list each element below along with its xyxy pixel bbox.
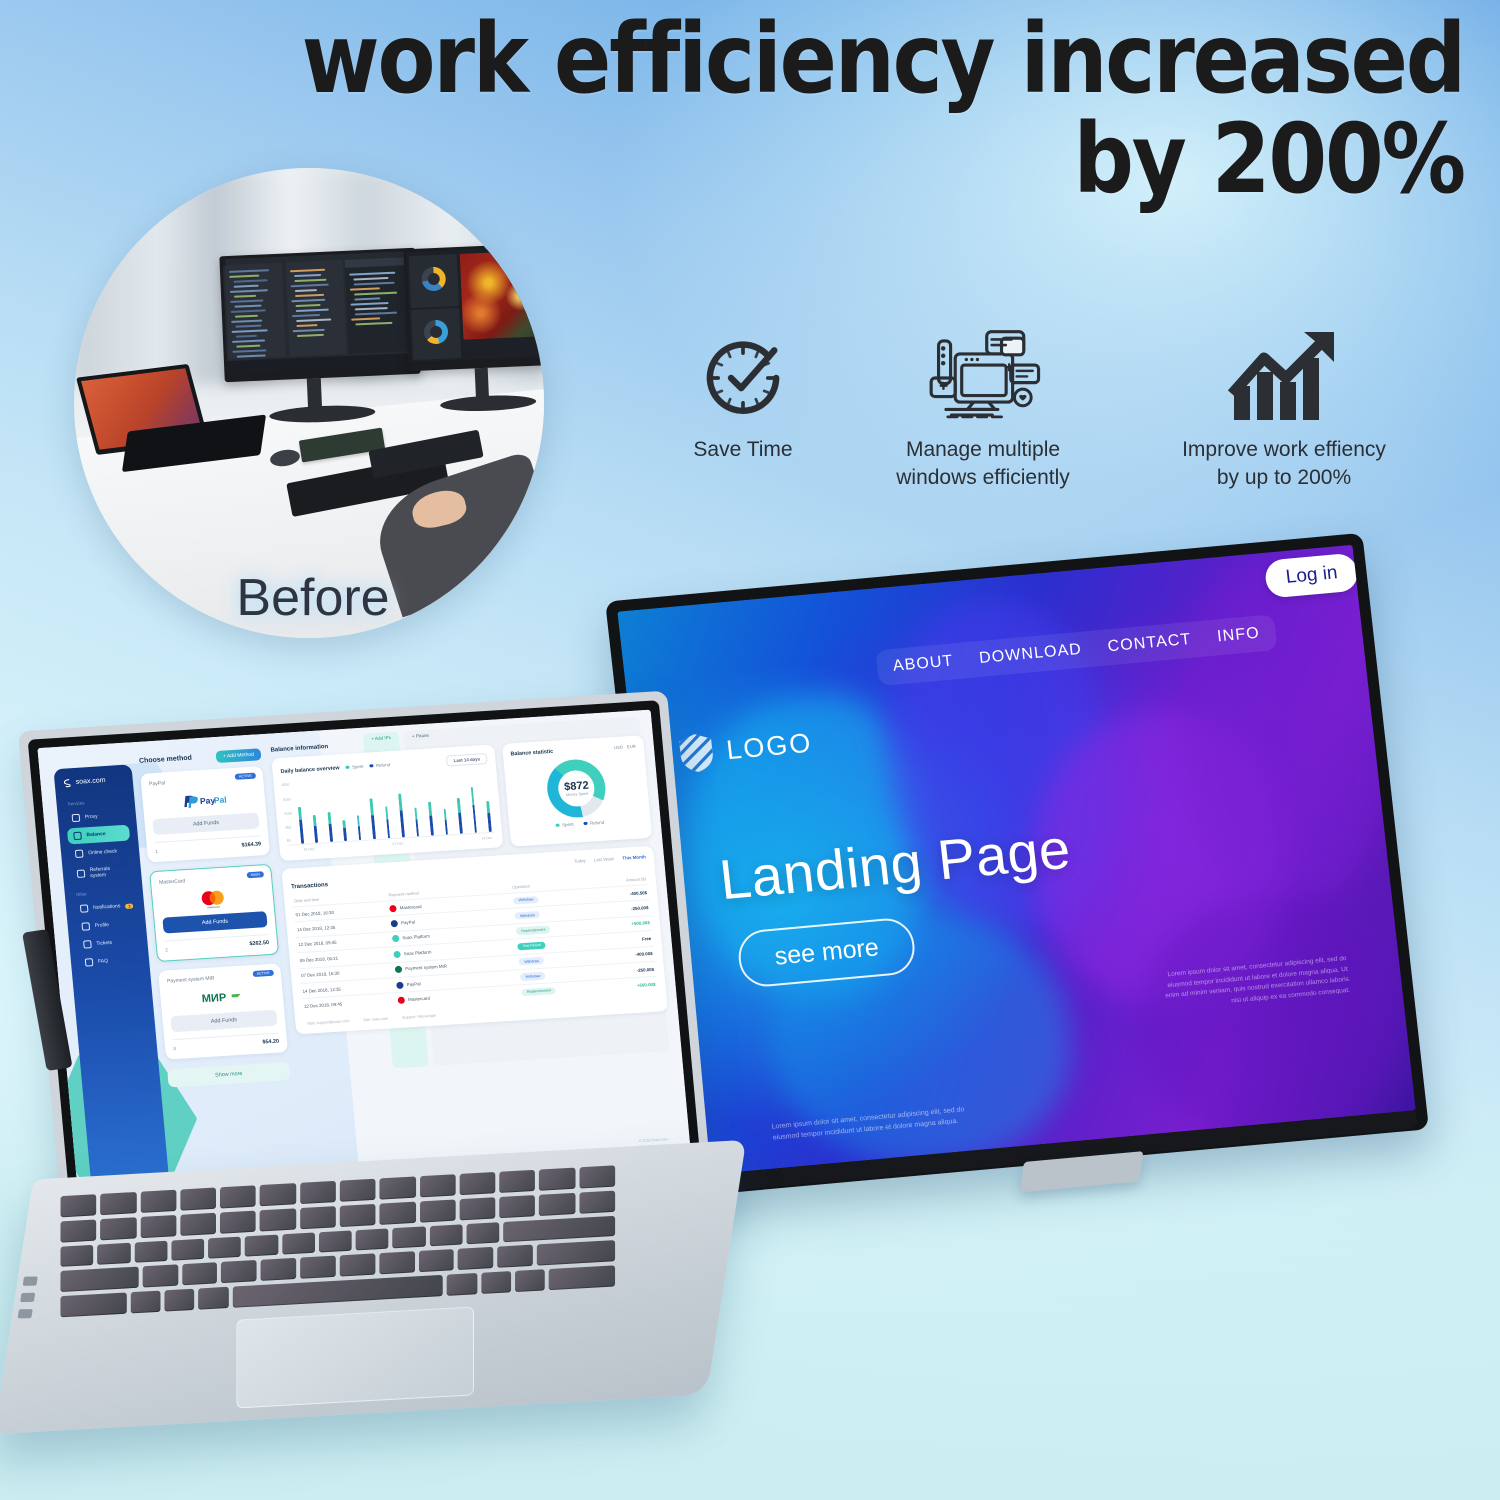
- soax-logo-icon: [62, 778, 72, 788]
- balance-icon: [73, 832, 82, 840]
- editor-pane-2: [285, 260, 346, 356]
- photo-monitor-right: [403, 243, 544, 371]
- keyboard-key[interactable]: [319, 1230, 352, 1253]
- feature-improve-efficiency: Improve work effiency by up to 200%: [1124, 326, 1444, 491]
- chart-bar: [357, 815, 362, 840]
- laptop: + Add IPs + Pause soax.com: [10, 710, 730, 1470]
- laptop-bezel: + Add IPs + Pause soax.com: [28, 700, 703, 1220]
- add-funds-button[interactable]: Add Funds: [162, 911, 267, 933]
- sidebar-item-label: FAQ: [98, 958, 109, 965]
- sidebar-item-label: Referrals system: [89, 865, 127, 879]
- sidebar-item-faq[interactable]: FAQ: [78, 951, 141, 971]
- keyboard-key[interactable]: [220, 1210, 256, 1233]
- keyboard-key[interactable]: [208, 1236, 241, 1259]
- paypal-logo: Pay Pal: [150, 786, 258, 815]
- editor-pane-1: [225, 263, 286, 359]
- sidebar-item-label: Tickets: [96, 940, 112, 947]
- svg-text:mastercard: mastercard: [207, 905, 220, 909]
- legend-spent: Spent: [555, 822, 573, 828]
- x-tick: 07 Dec: [392, 841, 403, 846]
- keyboard-key[interactable]: [171, 1238, 204, 1261]
- statistic-header: Balance statistic USD EUR: [510, 744, 636, 758]
- range-select[interactable]: Last 14 days: [446, 753, 487, 766]
- keyboard-key[interactable]: [499, 1195, 535, 1218]
- currency-usd[interactable]: USD: [614, 744, 623, 751]
- chart-bar: [327, 812, 332, 842]
- feature-list: Save Time: [648, 326, 1448, 526]
- daily-balance-chart-card: Daily balance overview Spent Refund Last…: [271, 745, 503, 862]
- keyboard-key[interactable]: [100, 1217, 136, 1240]
- device-group: ABOUT DOWNLOAD CONTACT INFO Log in: [0, 560, 1500, 1500]
- y-tick: $150: [283, 797, 291, 801]
- nav-item-contact[interactable]: CONTACT: [1107, 631, 1193, 656]
- chart-bar: [470, 787, 477, 833]
- chart-bar: [313, 815, 318, 843]
- keyboard-key[interactable]: [380, 1176, 416, 1199]
- keyboard-key[interactable]: [420, 1174, 456, 1197]
- legend-refund: Refund: [583, 820, 604, 826]
- chart-bar: [343, 820, 347, 841]
- currency-eur[interactable]: EUR: [627, 744, 636, 751]
- sidebar-item-label: Balance: [86, 831, 106, 838]
- chart-bar: [428, 801, 434, 835]
- chart-bar: [398, 793, 405, 837]
- footer-link-mail[interactable]: Mail: support@soax.com: [307, 1019, 349, 1026]
- sidebar-item-proxy[interactable]: Proxy: [65, 807, 128, 827]
- donut-label: Money Spent: [566, 792, 589, 797]
- keyboard-key[interactable]: [539, 1168, 575, 1191]
- keyboard-key[interactable]: [97, 1242, 130, 1265]
- donut-card-2: [411, 308, 461, 360]
- sidebar-item-profile[interactable]: Profile: [75, 915, 138, 935]
- method-count: 2: [165, 947, 168, 952]
- operation-badge: Withdraw: [513, 896, 539, 905]
- chart-bar: [443, 809, 448, 835]
- operation-badge: Withdraw: [519, 957, 545, 966]
- sidebar-item-online-check[interactable]: Online check: [68, 843, 131, 863]
- feature-manage-windows: Manage multiple windows efficiently: [848, 326, 1118, 491]
- soax-dashboard: + Add IPs + Pause soax.com: [37, 710, 692, 1211]
- donut-center: $872 Money Spent: [545, 758, 608, 819]
- keyboard-key[interactable]: [420, 1199, 456, 1222]
- chart-bar: [486, 801, 491, 832]
- keyboard-key[interactable]: [549, 1265, 615, 1290]
- add-method-button[interactable]: + Add Method: [215, 748, 261, 763]
- keyboard-key[interactable]: [429, 1224, 462, 1247]
- poster-canvas: work efficiency increased by 200%: [0, 0, 1500, 1500]
- sidebar-item-label: Notifications: [93, 903, 121, 911]
- keyboard-key[interactable]: [260, 1208, 296, 1231]
- brand: soax.com: [62, 775, 125, 788]
- keyboard-key[interactable]: [180, 1188, 216, 1211]
- nav-item-about[interactable]: ABOUT: [892, 652, 954, 675]
- operation-badge: Withdraw: [520, 972, 546, 981]
- nav-item-info[interactable]: INFO: [1216, 625, 1260, 647]
- method-count: 3: [173, 1046, 176, 1051]
- keyboard-key[interactable]: [515, 1269, 545, 1292]
- filter-last-week[interactable]: Last Week: [594, 856, 615, 862]
- headline-line-1: work efficiency increased: [302, 3, 1464, 115]
- operation-badge: Replenishment: [522, 987, 557, 996]
- notification-badge: 3: [125, 903, 134, 908]
- balance-statistic-card: Balance statistic USD EUR $872 Money Spe…: [502, 735, 652, 846]
- y-tick: $0: [287, 838, 291, 842]
- laptop-base: [0, 1140, 746, 1434]
- show-more-button[interactable]: Show more: [167, 1062, 290, 1088]
- feature-save-time: Save Time: [648, 326, 838, 464]
- keyboard-key[interactable]: [503, 1215, 615, 1242]
- keyboard-key[interactable]: [61, 1219, 97, 1242]
- footer-link-support[interactable]: Support: Messenger: [402, 1013, 437, 1019]
- keyboard-key[interactable]: [131, 1291, 161, 1314]
- payment-method-card[interactable]: ACTIVE Payment system MIR МИР Add Funds: [158, 963, 288, 1059]
- add-funds-button[interactable]: Add Funds: [170, 1010, 277, 1033]
- keyboard-key[interactable]: [199, 1287, 229, 1310]
- mastercard-logo: mastercard: [160, 884, 266, 912]
- filter-today[interactable]: Today: [574, 858, 586, 864]
- keyboard-key[interactable]: [340, 1179, 376, 1202]
- balance-panel: Balance information Daily balance overvi…: [270, 724, 681, 1184]
- cell-amount: +500.00$: [604, 976, 658, 994]
- mir-logo: МИР: [168, 983, 276, 1012]
- operation-badge: Test Period: [517, 941, 546, 950]
- sidebar-group-title: Other: [76, 888, 135, 897]
- code-editor-ui: [222, 251, 417, 373]
- login-button[interactable]: Log in: [1264, 553, 1360, 599]
- chart-bar: [370, 799, 376, 840]
- method-amount: $262.50: [249, 940, 269, 947]
- sidebar-item-label: Online check: [88, 848, 117, 856]
- keyboard-key[interactable]: [221, 1260, 257, 1283]
- method-amount: $164.39: [241, 841, 261, 848]
- donut-chart: $872 Money Spent: [545, 758, 608, 819]
- keyboard-key[interactable]: [356, 1228, 389, 1251]
- sidebar-item-label: Profile: [95, 922, 110, 929]
- bars-card-2: [482, 357, 521, 362]
- keyboard-key[interactable]: [499, 1170, 535, 1193]
- bell-icon: [80, 904, 89, 912]
- chart-bar: [385, 806, 391, 838]
- method-footer: 2 $262.50: [164, 934, 269, 952]
- nav-item-download[interactable]: DOWNLOAD: [978, 641, 1083, 668]
- keyboard-key[interactable]: [379, 1252, 415, 1275]
- keyboard-key[interactable]: [459, 1172, 495, 1195]
- legend-spent: Spent: [345, 764, 363, 770]
- mastercard-logo: [389, 905, 397, 912]
- keyboard-key[interactable]: [497, 1245, 533, 1268]
- y-tick: $200: [282, 782, 290, 786]
- paypal-logo: [391, 920, 399, 927]
- keyboard-key[interactable]: [182, 1263, 218, 1286]
- chart-bar: [457, 798, 463, 834]
- y-tick: $100: [284, 811, 292, 815]
- x-tick: 01 Dec: [304, 847, 315, 852]
- keyboard-key[interactable]: [140, 1215, 176, 1238]
- keyboard-key[interactable]: [447, 1273, 477, 1296]
- keyboard-key[interactable]: [165, 1289, 195, 1312]
- chart-bar: [298, 807, 304, 844]
- keyboard-key[interactable]: [466, 1222, 499, 1245]
- statistic-title: Balance statistic: [510, 749, 553, 758]
- sidebar-item-balance[interactable]: Balance: [67, 825, 130, 845]
- keyboard-key[interactable]: [537, 1240, 615, 1265]
- chart-plot: $200 $150 $100 $50 $0: [282, 770, 494, 846]
- keyboard-key[interactable]: [260, 1183, 296, 1206]
- multi-window-icon: [848, 326, 1118, 430]
- payment-method-card[interactable]: MAIN MasterCard mastercard: [149, 864, 279, 962]
- transactions-body: 01 Dec 2018, 16:30MastercardWithdraw-400…: [293, 885, 658, 1014]
- sidebar-group-title: Services: [67, 798, 126, 807]
- logo-text: LOGO: [725, 727, 814, 766]
- keyboard-key[interactable]: [579, 1165, 615, 1188]
- chart-bar: [414, 808, 419, 837]
- keyboard-key[interactable]: [300, 1206, 336, 1229]
- footer-link-site[interactable]: Site: soax.com: [363, 1016, 388, 1022]
- add-funds-button[interactable]: Add Funds: [152, 812, 259, 835]
- donut-card-1: [409, 254, 459, 308]
- sidebar-item-tickets[interactable]: Tickets: [77, 933, 140, 953]
- keyboard-key[interactable]: [393, 1226, 426, 1249]
- mir-logo: [395, 966, 403, 973]
- keyboard-key[interactable]: [100, 1192, 136, 1215]
- code-editor-screen: [222, 251, 417, 373]
- sidebar-item-label: Proxy: [85, 814, 98, 821]
- chart-title: Daily balance overview: [280, 765, 339, 775]
- sidebar-item-notifications[interactable]: Notifications3: [73, 897, 136, 917]
- method-footer: 3 $54.20: [172, 1033, 279, 1052]
- feature-caption: Save Time: [648, 436, 838, 464]
- keyboard-key[interactable]: [140, 1190, 176, 1213]
- heatmap-map: [460, 250, 544, 340]
- keyboard-key[interactable]: [60, 1244, 93, 1267]
- payment-method-card[interactable]: ACTIVE PayPal Pay Pal: [140, 766, 270, 862]
- keyboard-key[interactable]: [539, 1193, 575, 1216]
- referral-icon: [77, 869, 86, 877]
- check-icon: [75, 850, 84, 858]
- status-badge: MAIN: [247, 871, 265, 878]
- keyboard-key[interactable]: [459, 1197, 495, 1220]
- keyboard-key[interactable]: [134, 1240, 167, 1263]
- user-icon: [81, 922, 90, 930]
- laptop-keyboard[interactable]: [60, 1165, 615, 1317]
- keyboard-key[interactable]: [579, 1190, 615, 1213]
- keyboard-key[interactable]: [481, 1271, 511, 1294]
- analytics-screen: [407, 246, 544, 362]
- keyboard-key[interactable]: [419, 1249, 455, 1272]
- mastercard-logo: [398, 996, 406, 1003]
- charts-row: Daily balance overview Spent Refund Last…: [271, 735, 652, 861]
- feature-caption: Manage multiple windows efficiently: [848, 436, 1118, 491]
- keyboard-key[interactable]: [300, 1181, 336, 1204]
- legend-refund: Refund: [369, 762, 390, 768]
- clock-icon: [648, 326, 838, 430]
- method-footer: 1 $164.39: [154, 835, 261, 854]
- keyboard-key[interactable]: [220, 1185, 256, 1208]
- svg-text:МИР: МИР: [201, 992, 226, 1005]
- svg-text:Pal: Pal: [213, 794, 227, 805]
- growth-chart-icon: [1124, 326, 1444, 430]
- soax-logo: [392, 935, 400, 942]
- photo-monitor-left: [219, 248, 420, 382]
- brand-name: soax.com: [75, 777, 106, 786]
- chart-bars: [296, 772, 492, 844]
- keyboard-key[interactable]: [340, 1254, 376, 1277]
- operation-badge: Replenishment: [516, 926, 551, 935]
- keyboard-key[interactable]: [300, 1256, 336, 1279]
- soax-logo: [394, 951, 402, 958]
- proxy-icon: [72, 814, 81, 822]
- keyboard-key[interactable]: [380, 1201, 416, 1224]
- sidebar-item-referrals[interactable]: Referrals system: [70, 860, 134, 884]
- y-tick: $50: [286, 825, 292, 829]
- laptop-screen: + Add IPs + Pause soax.com: [37, 710, 692, 1211]
- method-count: 1: [155, 848, 158, 853]
- x-tick: 14 Dec: [481, 836, 492, 841]
- keyboard-key[interactable]: [340, 1204, 376, 1227]
- feature-caption: Improve work effiency by up to 200%: [1124, 436, 1444, 491]
- laptop-trackpad[interactable]: [236, 1306, 474, 1408]
- keyboard-key[interactable]: [458, 1247, 494, 1270]
- keyboard-key[interactable]: [142, 1265, 178, 1288]
- paypal-logo: [396, 981, 404, 988]
- bars-card-3: [523, 356, 544, 362]
- copyright: © 2018 Soax.com: [639, 1137, 668, 1143]
- transactions-table: Date and time Payment method Operation A…: [292, 873, 658, 1013]
- monitor-screen: ABOUT DOWNLOAD CONTACT INFO Log in: [617, 545, 1416, 1177]
- keyboard-key[interactable]: [245, 1234, 278, 1257]
- keyboard-key[interactable]: [60, 1293, 126, 1318]
- question-icon: [85, 958, 94, 966]
- method-amount: $54.20: [262, 1039, 279, 1046]
- keyboard-key[interactable]: [60, 1267, 138, 1292]
- analytics-ui: [407, 246, 544, 362]
- filter-this-month[interactable]: This Month: [622, 854, 646, 860]
- keyboard-key[interactable]: [180, 1213, 216, 1236]
- transactions-card: Today Last Week This Month Transactions …: [281, 846, 667, 1034]
- ticket-icon: [83, 940, 92, 948]
- operation-badge: Withdraw: [515, 911, 541, 920]
- keyboard-key[interactable]: [261, 1258, 297, 1281]
- donut-legend: Spent Refund: [517, 817, 643, 830]
- laptop-ports: [16, 1276, 38, 1331]
- keyboard-key[interactable]: [282, 1232, 315, 1255]
- keyboard-key[interactable]: [61, 1194, 97, 1217]
